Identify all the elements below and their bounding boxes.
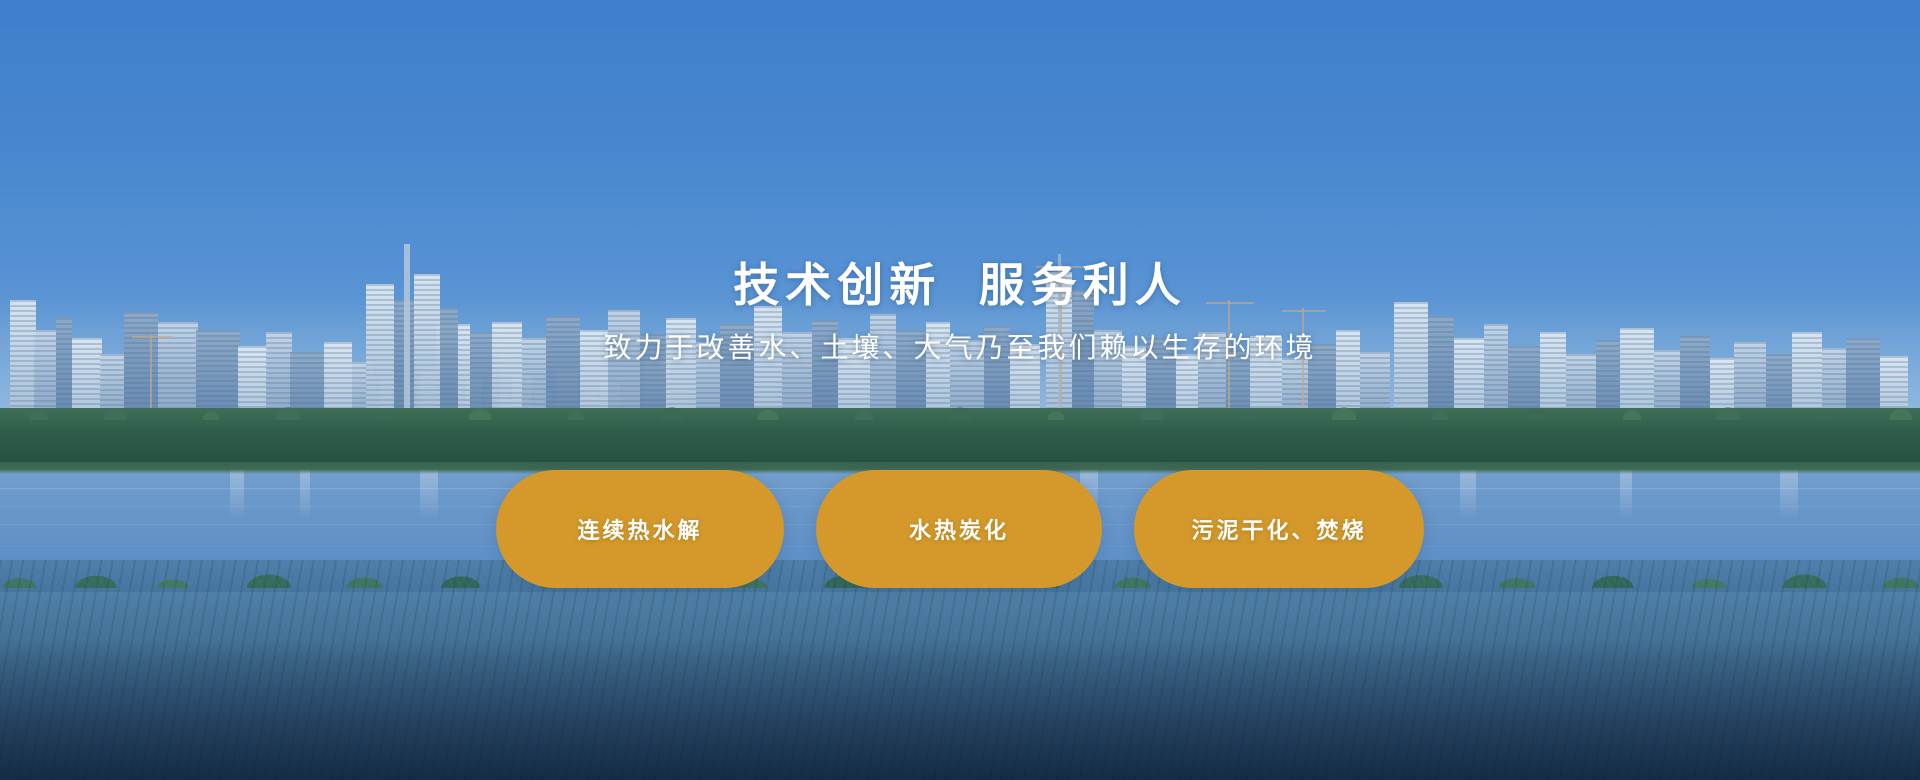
service-button-hydrothermal-carbonization[interactable]: 水热炭化 <box>816 470 1102 588</box>
service-button-group: 连续热水解 水热炭化 污泥干化、焚烧 <box>0 470 1920 588</box>
service-button-continuous-thermal-hydrolysis[interactable]: 连续热水解 <box>496 470 784 588</box>
tree-line <box>0 408 1920 466</box>
service-button-sludge-drying-incineration[interactable]: 污泥干化、焚烧 <box>1134 470 1424 588</box>
foreground-shadow <box>0 640 1920 780</box>
hero-banner: 技术创新 服务利人 致力于改善水、土壤、大气乃至我们赖以生存的环境 连续热水解 … <box>0 0 1920 780</box>
